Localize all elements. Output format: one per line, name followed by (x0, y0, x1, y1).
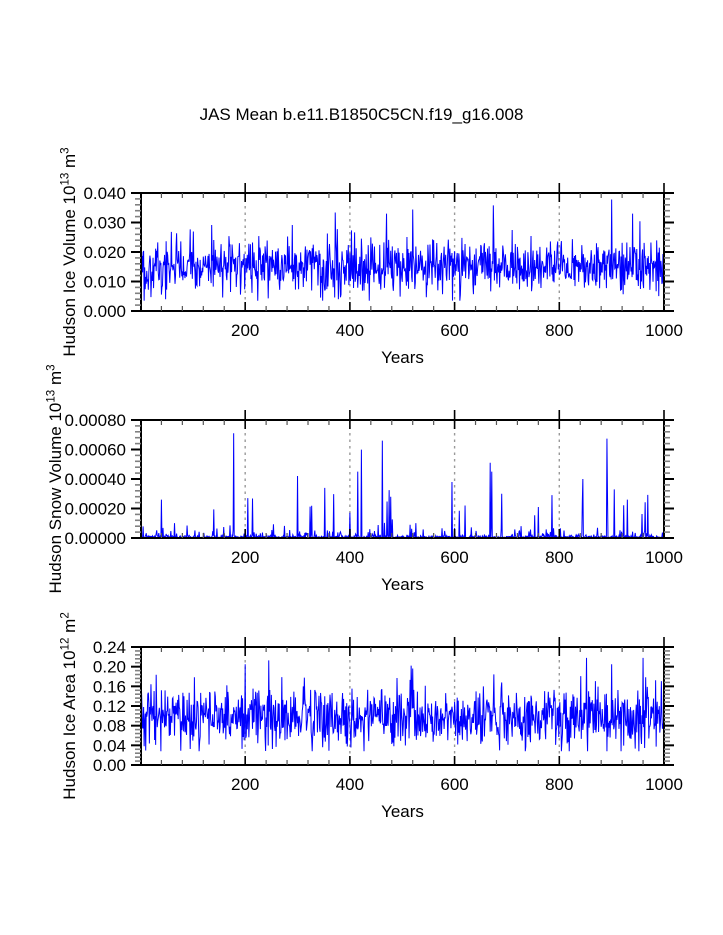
xtick-label: 1000 (645, 775, 683, 794)
xtick-label: 800 (545, 548, 573, 567)
xtick-label: 200 (231, 775, 259, 794)
xtick-label: 600 (440, 321, 468, 340)
ytick-label: 0.010 (83, 273, 126, 292)
figure-root: JAS Mean b.e11.B1850C5CN.f19_g16.008 Hud… (0, 0, 723, 935)
ytick-label: 0.00000 (65, 529, 126, 548)
x-axis-label-years-panel-2: Years (141, 575, 664, 595)
ytick-label: 0.00040 (65, 470, 126, 489)
plot-frame (141, 193, 664, 311)
xtick-label: 200 (231, 321, 259, 340)
ytick-label: 0.16 (93, 677, 126, 696)
data-series-hudson-ice-volume (141, 199, 664, 300)
xtick-label: 800 (545, 321, 573, 340)
data-series-hudson-snow-volume (141, 433, 664, 538)
data-series-hudson-ice-area (141, 658, 664, 751)
plot-frame (141, 420, 664, 538)
ytick-label: 0.24 (93, 638, 126, 657)
xtick-label: 200 (231, 548, 259, 567)
ytick-label: 0.04 (93, 736, 126, 755)
ytick-label: 0.00080 (65, 411, 126, 430)
plot-area-hudson-ice-area: 0.000.040.080.120.160.200.24200400600800… (0, 0, 723, 935)
x-axis-label-years-panel-1: Years (141, 348, 664, 368)
ytick-label: 0.08 (93, 717, 126, 736)
y-axis-label-hudson-snow-volume: Hudson Snow Volume 1013 m3 (46, 364, 66, 593)
xtick-label: 1000 (645, 321, 683, 340)
ytick-label: 0.000 (83, 302, 126, 321)
xtick-label: 1000 (645, 548, 683, 567)
plot-area-hudson-ice-volume: 0.0000.0100.0200.0300.040200400600800100… (0, 0, 723, 935)
plot-frame (141, 647, 664, 765)
xtick-label: 800 (545, 775, 573, 794)
ytick-label: 0.20 (93, 658, 126, 677)
x-axis-label-years-panel-3: Years (141, 802, 664, 822)
ytick-label: 0.00020 (65, 500, 126, 519)
xtick-label: 600 (440, 775, 468, 794)
y-axis-label-hudson-ice-volume: Hudson Ice Volume 1013 m3 (60, 147, 80, 356)
ytick-label: 0.040 (83, 184, 126, 203)
ytick-label: 0.12 (93, 697, 126, 716)
ytick-label: 0.020 (83, 243, 126, 262)
xtick-label: 400 (336, 775, 364, 794)
ytick-label: 0.00060 (65, 441, 126, 460)
page-title: JAS Mean b.e11.B1850C5CN.f19_g16.008 (0, 105, 723, 125)
ytick-label: 0.00 (93, 756, 126, 775)
plot-area-hudson-snow-volume: 0.000000.000200.000400.000600.0008020040… (0, 0, 723, 935)
xtick-label: 400 (336, 321, 364, 340)
y-axis-label-hudson-ice-area: Hudson Ice Area 1012 m2 (60, 612, 80, 799)
xtick-label: 600 (440, 548, 468, 567)
ytick-label: 0.030 (83, 214, 126, 233)
xtick-label: 400 (336, 548, 364, 567)
